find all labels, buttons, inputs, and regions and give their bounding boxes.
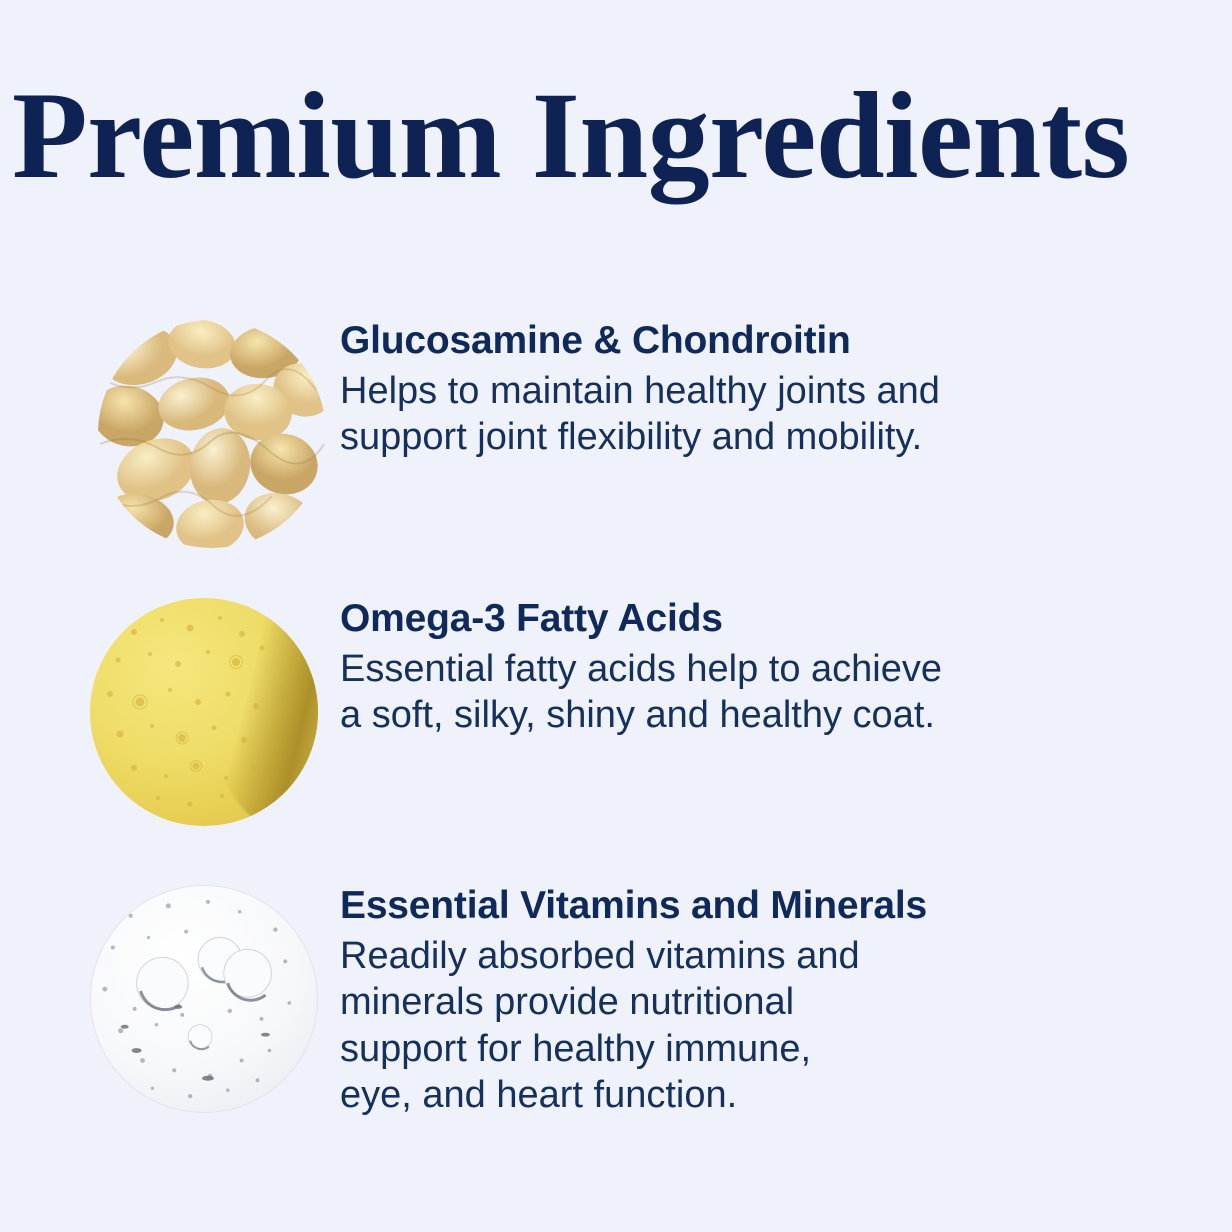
premium-ingredients-panel: Premium Ingredients <box>0 0 1232 1232</box>
ingredient-title: Omega-3 Fatty Acids <box>340 598 1212 640</box>
page-title: Premium Ingredients <box>12 74 1222 198</box>
gel-bubbles-icon <box>91 886 317 1112</box>
ingredient-row-essential-vitamins-minerals: Essential Vitamins and Minerals Readily … <box>0 885 1232 1119</box>
ingredient-title: Glucosamine & Chondroitin <box>340 320 1212 362</box>
description-line: Essential fatty acids help to achieve <box>340 646 1140 692</box>
description-line: Helps to maintain healthy joints and <box>340 368 1140 414</box>
description-line: minerals provide nutritional <box>340 979 1140 1025</box>
description-line: Readily absorbed vitamins and <box>340 933 1140 979</box>
ingredient-description: Readily absorbed vitamins and minerals p… <box>340 933 1140 1118</box>
ingredient-copy: Glucosamine & Chondroitin Helps to maint… <box>340 320 1232 461</box>
ingredient-title: Essential Vitamins and Minerals <box>340 885 1212 927</box>
description-line: a soft, silky, shiny and healthy coat. <box>340 692 1140 738</box>
ingredient-image-wrap <box>0 320 340 548</box>
description-line: support joint flexibility and mobility. <box>340 414 1140 460</box>
ingredient-description: Helps to maintain healthy joints and sup… <box>340 368 1140 461</box>
ingredient-copy: Essential Vitamins and Minerals Readily … <box>340 885 1232 1119</box>
ingredient-description: Essential fatty acids help to achieve a … <box>340 646 1140 739</box>
description-line: eye, and heart function. <box>340 1072 1140 1118</box>
yellow-oil-droplet-photo <box>90 598 318 826</box>
resin-texture-icon <box>98 320 326 548</box>
clear-gel-bubbles-photo <box>90 885 318 1113</box>
ingredient-image-wrap <box>0 885 340 1113</box>
resin-granules-photo <box>98 320 326 548</box>
description-line: support for healthy immune, <box>340 1026 1140 1072</box>
ingredient-row-glucosamine-chondroitin: Glucosamine & Chondroitin Helps to maint… <box>0 320 1232 548</box>
ingredient-copy: Omega-3 Fatty Acids Essential fatty acid… <box>340 598 1232 739</box>
oil-bubbles-icon <box>90 598 318 826</box>
ingredient-row-omega-3-fatty-acids: Omega-3 Fatty Acids Essential fatty acid… <box>0 598 1232 826</box>
ingredient-image-wrap <box>0 598 340 826</box>
